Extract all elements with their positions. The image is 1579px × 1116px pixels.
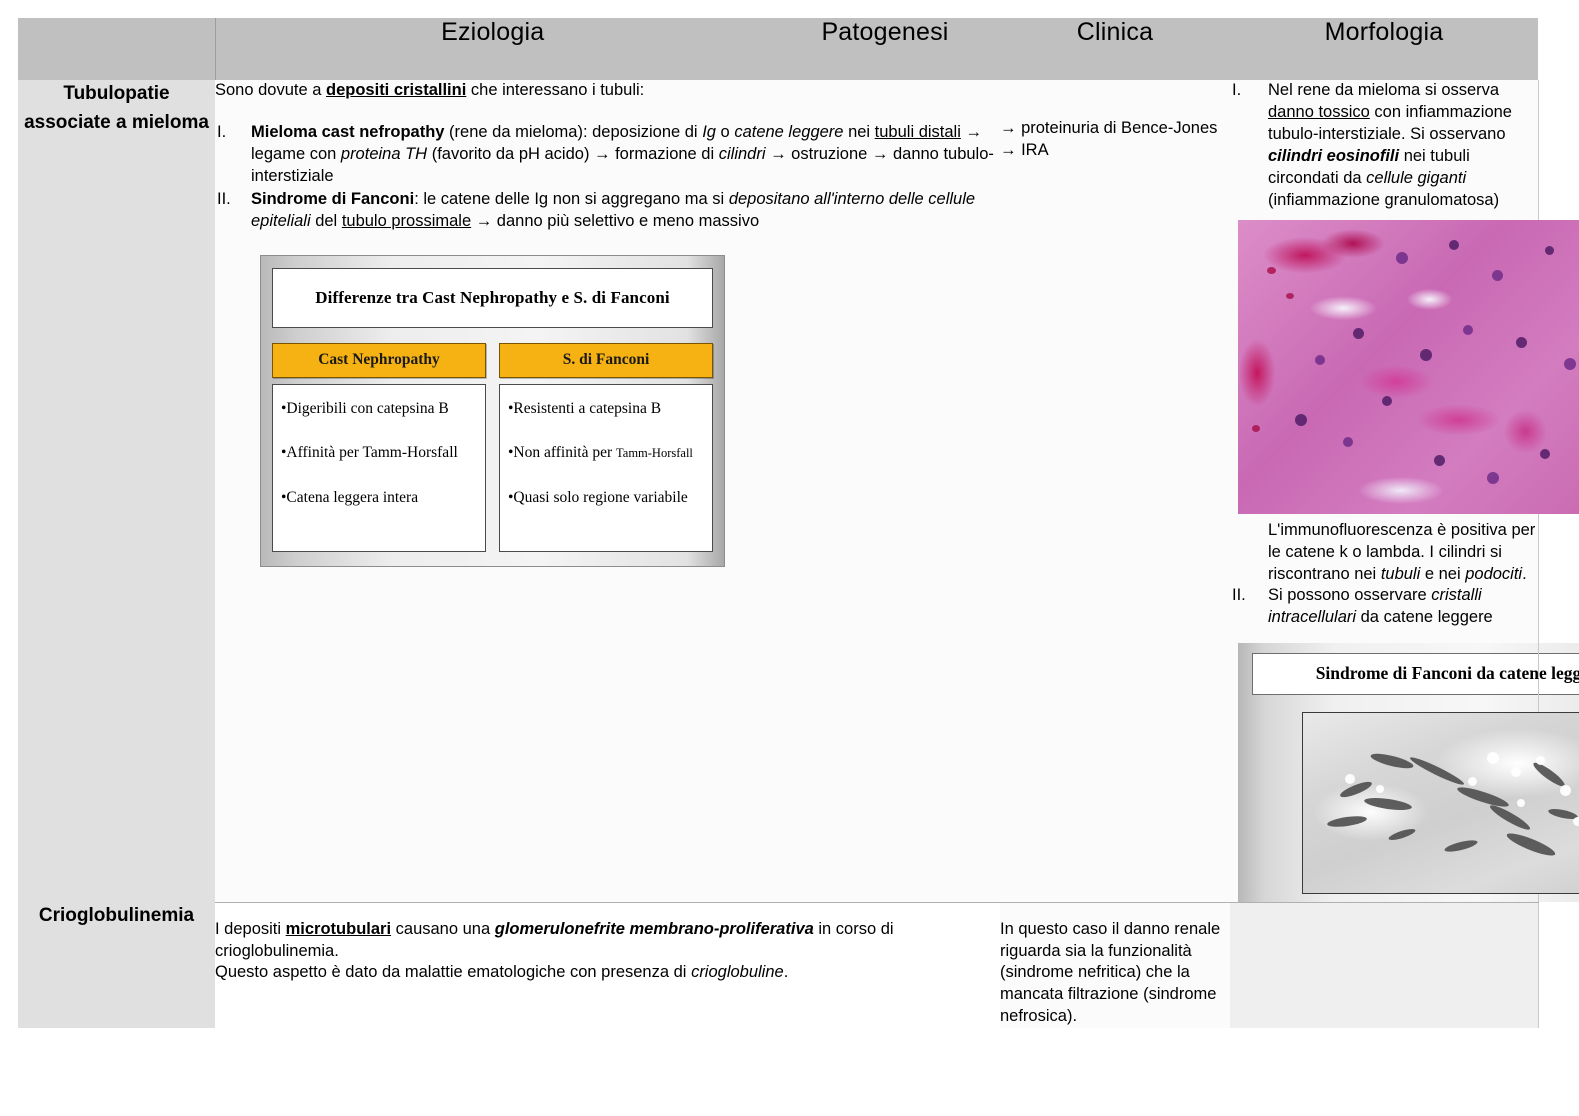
cell-eziologia-crioglobulinemia: I depositi microtubulari causano una glo… [215,902,1000,1028]
table-row: Crioglobulinemia I depositi microtubular… [18,902,1538,1028]
item-underline: tubulo prossimale [342,212,471,230]
comparison-table: Eziologia Patogenesi Clinica Morfologia … [18,18,1539,1028]
slide-column-fanconi: S. di Fanconi •Resistenti a catepsina B … [499,343,713,552]
slide-title: Differenze tra Cast Nephropathy e S. di … [272,268,713,329]
slide-bullet: •Resistenti a catepsina B [508,399,706,420]
eziologia-list: I. Mieloma cast nefropathy (rene da miel… [215,122,1000,233]
slide-body-fanconi: •Resistenti a catepsina B •Non affinità … [499,384,713,552]
para-em: podociti [1465,565,1522,583]
slide-column-cast-nephropathy: Cast Nephropathy •Digeribili con catepsi… [272,343,486,552]
item-title: Sindrome di Fanconi [251,190,414,208]
para-em: tubuli [1381,565,1420,583]
column-header-morfologia: Morfologia [1230,18,1538,80]
caption-sindrome-fanconi: Sindrome di Fanconi da catene leggere [1252,653,1579,694]
para-text: Questo aspetto è dato da malattie ematol… [215,963,691,981]
para-strong-em: glomerulonefrite membrano-proliferativa [495,920,814,938]
item-underline: danno tossico [1268,103,1370,121]
embedded-slide-differenze: Differenze tra Cast Nephropathy e S. di … [260,255,725,567]
cell-clinica-tubulopatie: → proteinuria di Bence-Jones → IRA [1000,80,1230,902]
item-text: del [311,212,342,230]
morfologia-content: I. Nel rene da mieloma si osserva danno … [1230,80,1538,902]
column-header-clinica: Clinica [1000,18,1230,80]
para-text: I depositi [215,920,286,938]
item-text: (favorito da pH acido) → formazione di [427,145,719,163]
intro-text-emph: depositi cristallini [326,81,466,99]
clinica-line-2: → IRA [1000,140,1230,162]
slide-bullet: •Catena leggera intera [281,488,479,509]
list-marker: I. [217,122,243,144]
slide-bullet-text: •Non affinità per [508,444,616,461]
item-text: nei [843,123,874,141]
item-underline: tubuli distali [875,123,961,141]
list-marker: I. [1232,80,1258,102]
para-em: crioglobuline [691,963,784,981]
column-header-blank [18,18,215,80]
morfologia-paragraph-if: L'immunofluorescenza è positiva per le c… [1230,520,1538,586]
slide-bullet: •Quasi solo regione variabile [508,488,706,509]
item-strong-em: cilindri eosinofili [1268,147,1399,165]
slide-bullet: •Affinità per Tamm-Horsfall [281,443,479,464]
crio-paragraph-2: Questo aspetto è dato da malattie ematol… [215,962,1000,984]
item-text: : le catene delle Ig non si aggregano ma… [414,190,729,208]
electron-micrograph-image [1302,712,1579,894]
item-em: Ig [702,123,716,141]
slide-band-cast-nephropathy: Cast Nephropathy [272,343,486,378]
item-text: o [716,123,734,141]
list-item: II. Sindrome di Fanconi: le catene delle… [215,189,1000,233]
item-em: proteina TH [341,145,427,163]
para-text: e nei [1420,565,1465,583]
table-row: Tubulopatie associate a mieloma Sono dov… [18,80,1538,902]
para-text: . [784,963,789,981]
cell-morfologia-crioglobulinemia [1230,902,1538,1028]
list-marker: II. [1232,585,1258,607]
column-header-patogenesi: Patogenesi [770,18,1000,80]
para-emph: microtubulari [286,920,391,938]
intro-text-a: Sono dovute a [215,81,326,99]
item-em: catene leggere [734,123,843,141]
slide-bullet: •Non affinità per Tamm-Horsfall [508,443,706,464]
table-header-row: Eziologia Patogenesi Clinica Morfologia [18,18,1538,80]
eziologia-intro: Sono dovute a depositi cristallini che i… [215,80,1000,102]
morfologia-list-bottom: II. Si possono osservare cristalli intra… [1230,585,1538,629]
crio-paragraph-1: I depositi microtubulari causano una glo… [215,919,1000,963]
slide-bullet-small: Tamm-Horsfall [616,446,693,460]
para-text: . [1522,565,1527,583]
cell-eziologia-tubulopatie: Sono dovute a depositi cristallini che i… [215,80,1000,902]
list-item: I. Nel rene da mieloma si osserva danno … [1230,80,1538,212]
row-label-crioglobulinemia: Crioglobulinemia [18,902,215,1028]
em-figure-block: Sindrome di Fanconi da catene leggere [1238,643,1579,901]
item-text: → danno più selettivo e meno massivo [471,212,759,230]
item-text: da catene leggere [1356,608,1493,626]
item-text: (infiammazione granulomatosa) [1268,191,1499,209]
item-text: (rene da mieloma): deposizione di [444,123,702,141]
clinica-line-1: → proteinuria di Bence-Jones [1000,118,1230,140]
cell-clinica-crioglobulinemia: In questo caso il danno renale riguarda … [1000,902,1230,1028]
para-text: causano una [391,920,495,938]
row-label-tubulopatie: Tubulopatie associate a mieloma [18,80,215,902]
list-item: II. Si possono osservare cristalli intra… [1230,585,1538,629]
histology-micrograph-image [1238,220,1579,514]
morfologia-list-top: I. Nel rene da mieloma si osserva danno … [1230,80,1538,212]
column-header-eziologia: Eziologia [215,18,770,80]
cell-morfologia-tubulopatie: I. Nel rene da mieloma si osserva danno … [1230,80,1538,902]
item-text: Si possono osservare [1268,586,1431,604]
slide-bullet: •Digeribili con catepsina B [281,399,479,420]
slide-body-cast-nephropathy: •Digeribili con catepsina B •Affinità pe… [272,384,486,552]
item-title: Mieloma cast nefropathy [251,123,444,141]
slide-columns: Cast Nephropathy •Digeribili con catepsi… [272,343,713,552]
item-em: cilindri [719,145,766,163]
item-text: Nel rene da mieloma si osserva [1268,81,1499,99]
item-em: cellule giganti [1366,169,1466,187]
list-item: I. Mieloma cast nefropathy (rene da miel… [215,122,1000,188]
list-marker: II. [217,189,243,211]
intro-text-c: che interessano i tubuli: [466,81,644,99]
slide-band-fanconi: S. di Fanconi [499,343,713,378]
summary-table-sheet: Eziologia Patogenesi Clinica Morfologia … [18,18,1538,1028]
